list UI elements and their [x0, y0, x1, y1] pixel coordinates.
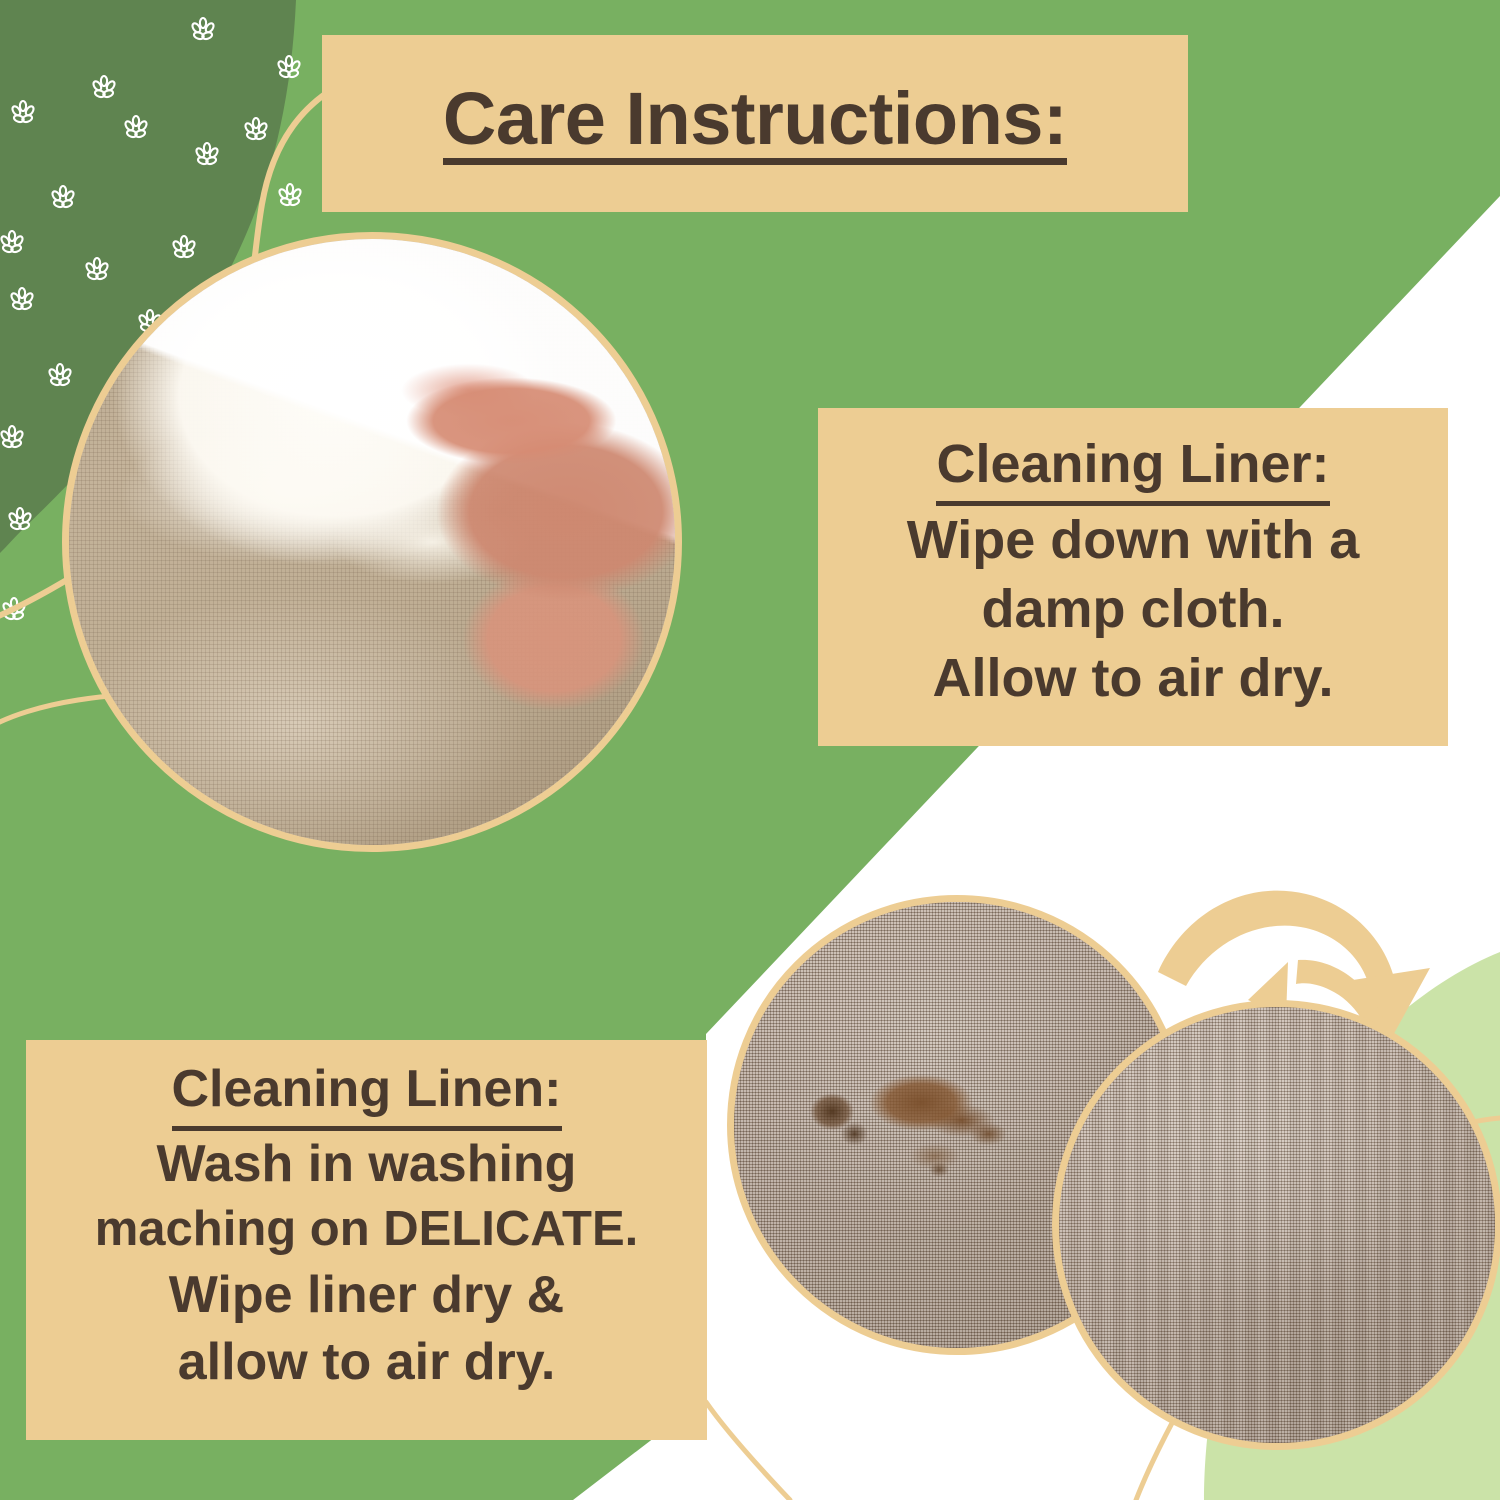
cleaning-linen-line-1: Wash in washing [26, 1131, 707, 1199]
cleaning-linen-heading: Cleaning Linen: [26, 1056, 707, 1131]
cleaning-liner-line-3: Allow to air dry. [818, 644, 1448, 713]
cleaning-liner-panel: Cleaning Liner: Wipe down with a damp cl… [818, 408, 1448, 746]
page-title: Care Instructions: [443, 82, 1067, 165]
cleaning-linen-panel: Cleaning Linen: Wash in washing maching … [26, 1040, 707, 1440]
cleaning-liner-heading-text: Cleaning Liner: [936, 430, 1329, 506]
tan-swash-bottom-center [706, 1402, 790, 1500]
cleaning-liner-heading: Cleaning Liner: [818, 430, 1448, 506]
cleaning-linen-line-2: maching on DELICATE. [26, 1198, 707, 1262]
page-title-text: Care Instructions: [443, 82, 1067, 165]
cleaning-liner-line-2: damp cloth. [818, 575, 1448, 644]
cleaning-liner-line-1: Wipe down with a [818, 506, 1448, 575]
cleaning-linen-line-3: Wipe liner dry & [26, 1262, 707, 1330]
cleaning-linen-heading-text: Cleaning Linen: [172, 1056, 562, 1131]
care-instructions-poster: Care Instructions: Cleaning Liner: Wipe … [0, 0, 1500, 1500]
photo-circle-wipe-liner [62, 232, 682, 852]
title-panel: Care Instructions: [322, 35, 1188, 212]
photo-circle-clean-linen [1052, 1000, 1500, 1450]
photo-clean-linen-image [1059, 1007, 1495, 1443]
photo-wipe-liner-image [69, 239, 675, 845]
cleaning-linen-line-4: allow to air dry. [26, 1329, 707, 1397]
